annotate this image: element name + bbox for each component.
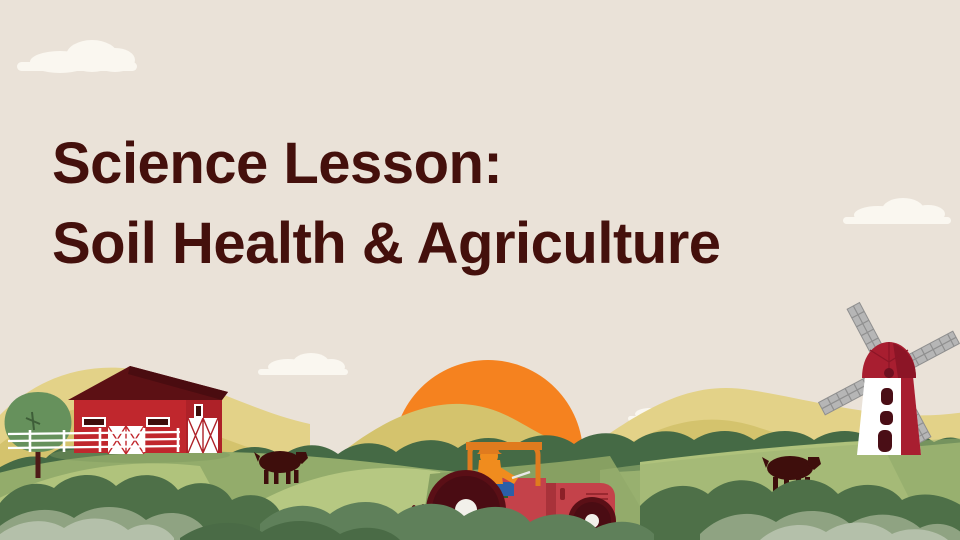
slide-canvas: Science Lesson: Soil Health & Agricultur… [0,0,960,540]
barn-loft-window-pane [196,406,201,416]
title-line-2: Soil Health & Agriculture [52,204,872,284]
barn-window-right-pane [148,419,168,425]
barn-window-left-pane [84,419,104,425]
windmill-window-top [881,388,893,405]
tree-canopy [5,392,72,452]
tractor-cab-roof [466,442,542,450]
tractor-marker [560,488,565,500]
title-line-1: Science Lesson: [52,124,872,204]
windmill-window-bottom [878,430,892,452]
page-title: Science Lesson: Soil Health & Agricultur… [52,124,872,284]
windmill-hub [884,368,894,378]
windmill-window-mid [880,411,893,425]
